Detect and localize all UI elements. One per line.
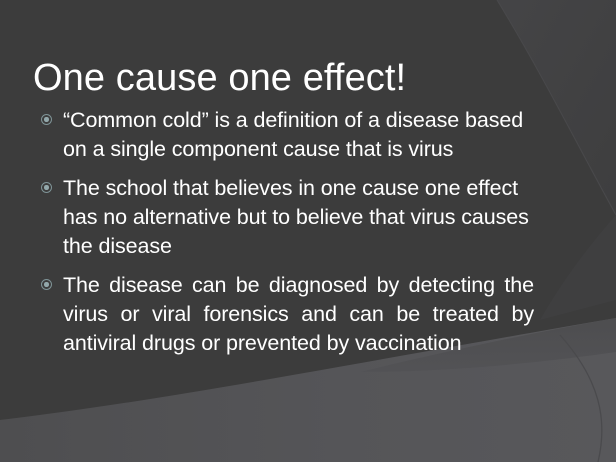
slide-content: One cause one effect! “Common cold” is a…	[0, 0, 616, 462]
slide-title: One cause one effect!	[33, 53, 573, 103]
slide-canvas: One cause one effect! “Common cold” is a…	[0, 0, 616, 462]
ring-bullet-icon	[41, 114, 52, 125]
bullet-text: The disease can be diagnosed by detectin…	[63, 271, 534, 358]
ring-bullet-icon	[41, 182, 52, 193]
bullet-text: “Common cold” is a definition of a disea…	[63, 106, 534, 164]
bullet-list-item: The disease can be diagnosed by detectin…	[38, 271, 534, 358]
ring-bullet-icon	[41, 279, 52, 290]
bullet-list: “Common cold” is a definition of a disea…	[38, 106, 534, 358]
bullet-list-item: “Common cold” is a definition of a disea…	[38, 106, 534, 164]
bullet-text: The school that believes in one cause on…	[63, 174, 534, 261]
bullet-list-item: The school that believes in one cause on…	[38, 174, 534, 261]
